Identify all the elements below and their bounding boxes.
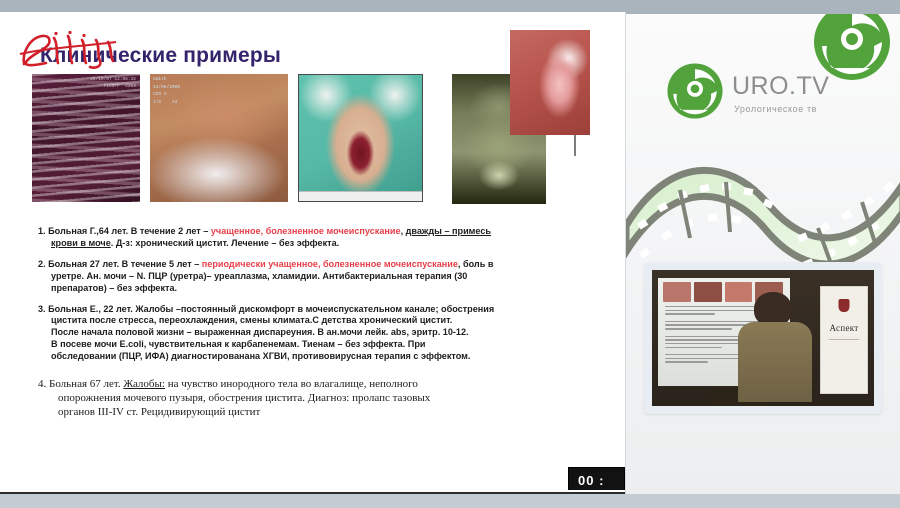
filmstrip-decoration-icon (626, 126, 900, 276)
cystoscopy-image: Smith13/06/2008UCR 2I/S A3 (150, 74, 288, 202)
case-1: 1. Больная Г.,64 лет. В течение 2 лет – … (38, 226, 616, 250)
slide-viewer-panel[interactable]: Клинические примеры 26/10/07 12:08:32F18… (0, 12, 625, 492)
cystoscopy-overlay-text: Smith13/06/2008UCR 2I/S A3 (153, 76, 180, 107)
case-3-line-4: В посеве мочи E.coli, чувствительная к к… (38, 339, 616, 351)
case-4-line-3: органов III-IV ст. Рецидивирующий цистит (38, 405, 616, 419)
slide-body-text: 1. Больная Г.,64 лет. В течение 2 лет – … (38, 226, 616, 428)
case-1-line-2: крови в моче. Д-з: хронический цистит. Л… (38, 238, 616, 250)
presenter-head (754, 292, 792, 326)
case-3-line-3: После начала половой жизни – выраженная … (38, 327, 616, 339)
case-2-line-2: уретре. Ан. мочи – N. ПЦР (уретра)– уреа… (38, 271, 616, 283)
presenter-body (738, 322, 812, 402)
case-2-line-3: препаратов) – без эффекта. (38, 283, 616, 295)
app-root: Клинические примеры 26/10/07 12:08:32F18… (0, 0, 900, 508)
ultrasound-image: 26/10/07 12:08:32F180FF C2G4 (32, 74, 140, 202)
organ-photo-image (510, 30, 590, 135)
ultrasound-overlay-text: 26/10/07 12:08:32F180FF C2G4 (90, 77, 136, 91)
case-2: 2. Больная 27 лет. В течение 5 лет – пер… (38, 259, 616, 295)
video-frame: Аспект (652, 270, 874, 406)
case-4-line-2: опорожнения мочевого пузыря, обострения … (38, 391, 616, 405)
countdown-timer: 00 : 30 (568, 467, 625, 490)
crest-icon (839, 299, 850, 312)
presentation-slide: Клинические примеры 26/10/07 12:08:32F18… (0, 12, 625, 490)
case-1-line-1: 1. Больная Г.,64 лет. В течение 2 лет – … (38, 226, 616, 238)
presenter-figure (738, 292, 812, 400)
lecture-video-thumbnail[interactable]: Аспект (644, 262, 882, 414)
exam-image-caption-bar (299, 191, 422, 201)
clinical-exam-image (298, 74, 423, 202)
case-3-line-2: цистита после стресса, переохлаждения, с… (38, 315, 616, 327)
case-4-line-1: 4. Больная 67 лет. Жалобы: на чувство ин… (38, 377, 616, 391)
case-3-line-1: 3. Больная Е., 22 лет. Жалобы –постоянны… (38, 304, 616, 316)
brand-subtitle: Урологическое тв (734, 104, 817, 114)
urotv-logo-icon (666, 62, 724, 125)
case-3: 3. Больная Е., 22 лет. Жалобы –постоянны… (38, 304, 616, 364)
banner-word: Аспект (829, 323, 858, 333)
banner-divider (829, 339, 859, 340)
branding-panel: URO.TV Урологическое тв (626, 14, 900, 494)
case-4: 4. Больная 67 лет. Жалобы: на чувство ин… (38, 377, 616, 419)
case-2-line-1: 2. Больная 27 лет. В течение 5 лет – пер… (38, 259, 616, 271)
urotv-corner-logo-icon (812, 14, 892, 87)
event-rollup-banner: Аспект (820, 286, 868, 394)
case-3-line-5: обследовании (ПЦР, ИФА) диагностированан… (38, 351, 616, 363)
lilly-logo (16, 30, 136, 72)
